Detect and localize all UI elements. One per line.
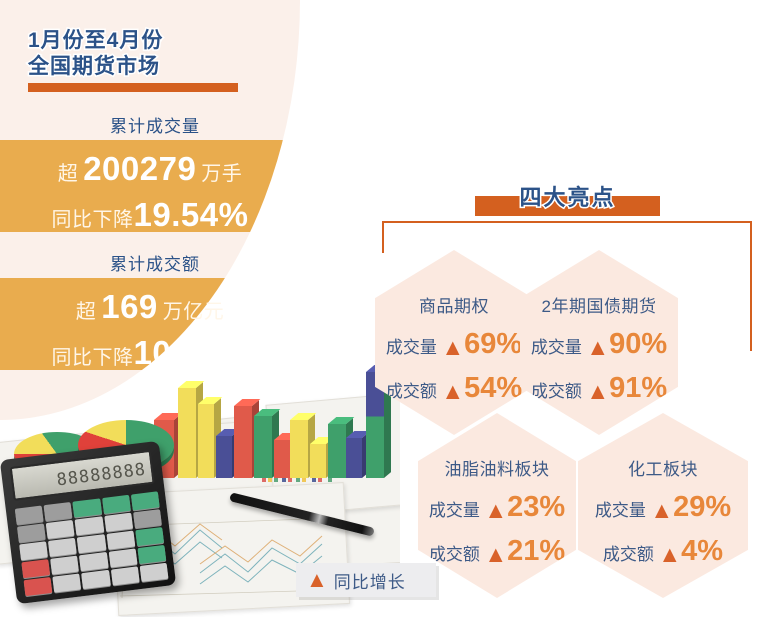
up-triangle-icon: ▲ <box>484 497 507 523</box>
highlight-volume-row: 成交量 ▲90% <box>520 328 678 361</box>
calculator-key <box>139 563 168 582</box>
calculator: 88888888 <box>0 441 176 604</box>
bar-3d <box>178 388 196 478</box>
highlight-volume-label: 成交量 <box>531 338 582 357</box>
turnover-value: 169 <box>101 288 158 325</box>
calculator-key <box>48 538 77 557</box>
up-triangle-icon: ▲ <box>441 378 464 404</box>
highlight-turnover-value: 4% <box>681 535 723 567</box>
bar-3d <box>234 406 252 478</box>
highlight-hex-oils-oilseeds: 油脂油料板块 成交量 ▲23% 成交额 ▲21% <box>418 413 576 598</box>
calculator-key <box>17 523 46 542</box>
calculator-key <box>73 498 102 517</box>
calculator-key <box>135 527 164 546</box>
highlight-volume-label: 成交量 <box>386 338 437 357</box>
bracket-right-drop <box>750 221 752 351</box>
highlight-name: 2年期国债期货 <box>520 292 678 317</box>
calculator-key <box>82 570 111 589</box>
volume-unit: 万手 <box>201 163 242 185</box>
highlight-volume-label: 成交量 <box>595 501 646 520</box>
title-line-2: 全国期货市场 <box>28 54 238 80</box>
highlight-volume-value: 69% <box>464 328 522 360</box>
legend-box: ▲ 同比增长 <box>296 563 436 597</box>
highlight-volume-row: 成交量 ▲69% <box>375 328 533 361</box>
highlights-title: 四大亮点 <box>475 180 660 212</box>
highlight-volume-row: 成交量 ▲23% <box>418 491 576 524</box>
highlight-turnover-value: 91% <box>609 372 667 404</box>
legend-label: 同比增长 <box>334 568 406 593</box>
bar-3d <box>254 416 272 478</box>
turnover-unit: 万亿元 <box>163 301 225 323</box>
highlight-turnover-row: 成交额 ▲4% <box>578 535 748 568</box>
page-title: 1月份至4月份 全国期货市场 <box>28 28 238 92</box>
up-triangle-icon: ▲ <box>650 497 673 523</box>
bracket-horizontal-line <box>382 221 752 223</box>
volume-prefix: 超 <box>58 163 79 185</box>
highlight-turnover-label: 成交额 <box>386 382 437 401</box>
calculator-key <box>50 556 79 575</box>
calculator-key <box>19 541 48 560</box>
highlight-volume-value: 23% <box>507 491 565 523</box>
highlight-turnover-row: 成交额 ▲91% <box>520 372 678 405</box>
turnover-prefix: 超 <box>76 301 97 323</box>
highlight-turnover-value: 21% <box>507 535 565 567</box>
calculator-key <box>133 509 162 528</box>
calculator-keypad <box>15 491 169 596</box>
title-line-1: 1月份至4月份 <box>28 28 238 54</box>
stat-turnover-value-row: 超 169 万亿元 <box>0 288 300 326</box>
highlight-name: 商品期权 <box>375 292 533 317</box>
highlight-volume-row: 成交量 ▲29% <box>578 491 748 524</box>
bar-3d <box>216 436 232 478</box>
highlight-turnover-row: 成交额 ▲54% <box>375 372 533 405</box>
highlight-volume-label: 成交量 <box>429 501 480 520</box>
volume-value: 200279 <box>83 150 196 187</box>
up-triangle-icon: ▲ <box>658 541 681 567</box>
highlight-volume-value: 90% <box>609 328 667 360</box>
highlight-turnover-label: 成交额 <box>531 382 582 401</box>
infographic-root: 1月份至4月份 全国期货市场 累计成交量 超 200279 万手 同比下降19.… <box>0 0 768 617</box>
volume-change-value: 19.54% <box>134 196 249 233</box>
up-triangle-icon: ▲ <box>484 541 507 567</box>
highlight-name: 油脂油料板块 <box>418 455 576 480</box>
calculator-key <box>131 491 160 510</box>
highlight-turnover-value: 54% <box>464 372 522 404</box>
bar-3d <box>198 404 214 478</box>
title-underline <box>28 83 238 92</box>
bar-3d <box>346 438 362 478</box>
stat-volume-change-row: 同比下降19.54% <box>0 196 300 234</box>
calculator-key <box>15 506 44 525</box>
turnover-change-label: 同比下降 <box>52 347 134 369</box>
highlight-turnover-row: 成交额 ▲21% <box>418 535 576 568</box>
calculator-key <box>44 502 73 521</box>
calculator-key <box>108 548 137 567</box>
stat-volume-value-row: 超 200279 万手 <box>0 150 300 188</box>
calculator-key <box>106 531 135 550</box>
up-triangle-icon: ▲ <box>586 378 609 404</box>
calculator-key <box>137 545 166 564</box>
stat-label-turnover: 累计成交额 <box>0 250 310 275</box>
calculator-key <box>53 573 82 592</box>
stat-label-volume: 累计成交量 <box>0 112 310 137</box>
bracket-left-drop <box>382 221 384 253</box>
bar-3d <box>290 420 308 478</box>
highlight-name: 化工板块 <box>578 455 748 480</box>
up-triangle-icon: ▲ <box>306 569 328 591</box>
calculator-key <box>77 534 106 553</box>
calculator-key <box>75 516 104 535</box>
highlight-turnover-label: 成交额 <box>603 545 654 564</box>
stat-turnover-change-row: 同比下降10.59% <box>0 334 300 372</box>
up-triangle-icon: ▲ <box>586 334 609 360</box>
calculator-key <box>102 495 131 514</box>
calculator-key <box>24 577 53 596</box>
bar-3d <box>328 424 346 478</box>
calculator-key <box>21 559 50 578</box>
calculator-key <box>46 520 75 539</box>
bar-chart-3d <box>140 358 390 478</box>
volume-change-label: 同比下降 <box>52 209 134 231</box>
bar-3d <box>310 444 326 478</box>
highlight-turnover-label: 成交额 <box>429 545 480 564</box>
up-triangle-icon: ▲ <box>441 334 464 360</box>
calculator-key <box>79 552 108 571</box>
bar-3d <box>274 440 290 478</box>
calculator-key <box>104 513 133 532</box>
highlight-hex-chemicals: 化工板块 成交量 ▲29% 成交额 ▲4% <box>578 413 748 598</box>
calculator-key <box>111 566 140 585</box>
turnover-change-value: 10.59% <box>134 334 249 371</box>
highlight-volume-value: 29% <box>673 491 731 523</box>
